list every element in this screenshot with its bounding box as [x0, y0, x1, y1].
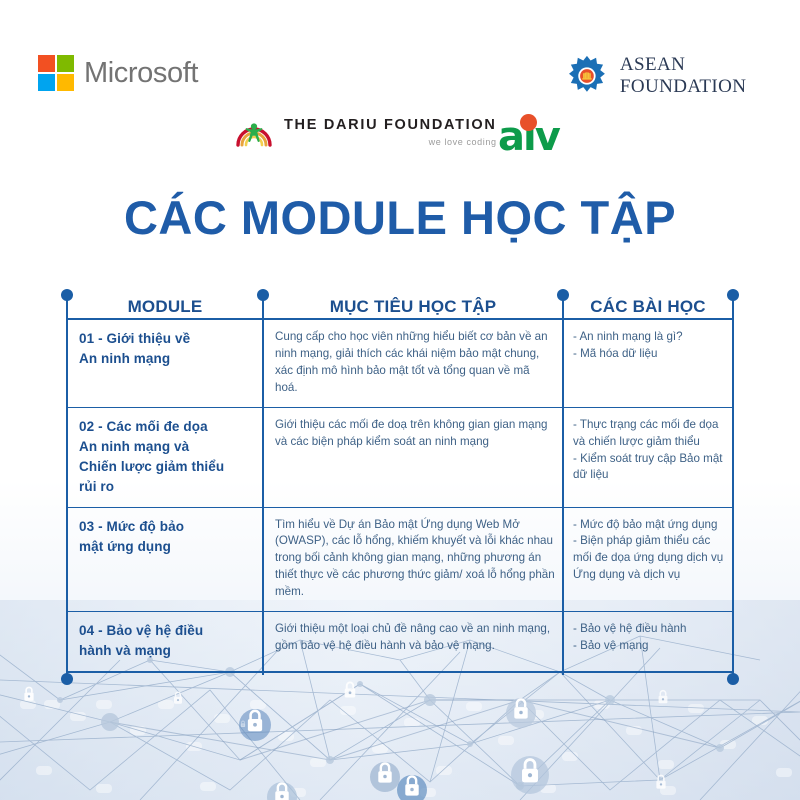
table-body: 01 - Giới thiệu vềAn ninh mạngCung cấp c…: [67, 318, 733, 673]
dariu-foundation-logo: THE DARIU FOUNDATION we love coding: [234, 113, 497, 153]
cell-lessons: - An ninh mạng là gì?- Mã hóa dữ liệu: [563, 320, 733, 407]
microsoft-square-yellow: [57, 74, 74, 91]
microsoft-square-green: [57, 55, 74, 72]
cell-module: 03 - Mức độ bảomật ứng dụng: [67, 508, 263, 612]
objective-text: Cung cấp cho học viên những hiểu biết cơ…: [275, 329, 555, 397]
lesson-item: - Biện pháp giảm thiểu các mối đe dọa ứn…: [573, 533, 725, 584]
table-row: 04 - Bảo vệ hệ điềuhành và mạngGiới thiệ…: [67, 612, 733, 671]
table-header-row: MODULE MỤC TIÊU HỌC TẬP CÁC BÀI HỌC: [67, 288, 733, 318]
dariu-wordmark: THE DARIU FOUNDATION: [284, 118, 497, 134]
cell-lessons: - Mức độ bảo mật ứng dụng- Biện pháp giả…: [563, 508, 733, 612]
objective-text: Giới thiệu các mối đe doạ trên không gia…: [275, 417, 555, 451]
cell-objective: Giới thiệu một loại chủ đề nâng cao về a…: [263, 612, 563, 671]
microsoft-square-blue: [38, 74, 55, 91]
objective-text: Giới thiệu một loại chủ đề nâng cao về a…: [275, 621, 555, 655]
lesson-item: - An ninh mạng là gì?: [573, 329, 725, 346]
column-header-lessons: CÁC BÀI HỌC: [563, 297, 733, 317]
cell-objective: Tìm hiểu về Dự án Bảo mật Ứng dụng Web M…: [263, 508, 563, 612]
module-title: 03 - Mức độ bảomật ứng dụng: [79, 517, 255, 557]
rail-dot-bottom-left: [61, 673, 73, 685]
asean-foundation-logo: ASEAN FOUNDATION: [565, 52, 800, 100]
cell-objective: Cung cấp cho học viên những hiểu biết cơ…: [263, 320, 563, 407]
rail-dot-top-left: [61, 289, 73, 301]
page-title: CÁC MODULE HỌC TẬP: [0, 190, 800, 245]
module-title: 02 - Các mối đe dọaAn ninh mạng vàChiến …: [79, 417, 255, 497]
modules-table: MODULE MỤC TIÊU HỌC TẬP CÁC BÀI HỌC 01 -…: [67, 288, 733, 318]
column-header-objectives: MỤC TIÊU HỌC TẬP: [263, 297, 563, 317]
cell-module: 04 - Bảo vệ hệ điềuhành và mạng: [67, 612, 263, 671]
dariu-tagline: we love coding: [284, 138, 497, 148]
lesson-item: - Mã hóa dữ liệu: [573, 346, 725, 363]
asean-foundation-wordmark: ASEAN FOUNDATION: [620, 54, 800, 98]
microsoft-logo: Microsoft: [38, 55, 198, 91]
module-title: 01 - Giới thiệu vềAn ninh mạng: [79, 329, 255, 369]
module-title: 04 - Bảo vệ hệ điềuhành và mạng: [79, 621, 255, 661]
cell-module: 02 - Các mối đe dọaAn ninh mạng vàChiến …: [67, 408, 263, 507]
rail-dot-bottom-right: [727, 673, 739, 685]
table-row: 02 - Các mối đe dọaAn ninh mạng vàChiến …: [67, 408, 733, 508]
microsoft-wordmark: Microsoft: [84, 57, 198, 90]
cell-objective: Giới thiệu các mối đe doạ trên không gia…: [263, 408, 563, 507]
lesson-item: - Mức độ bảo mật ứng dụng: [573, 517, 725, 534]
asean-emblem-icon: [565, 52, 609, 100]
lesson-item: - Bảo vệ hệ điều hành: [573, 621, 725, 638]
rail-dot-top-2: [557, 289, 569, 301]
lesson-item: - Thực trạng các mối đe dọa và chiến lượ…: [573, 417, 725, 451]
cell-lessons: - Thực trạng các mối đe dọa và chiến lượ…: [563, 408, 733, 507]
column-header-module: MODULE: [67, 297, 263, 317]
microsoft-grid-icon: [38, 55, 74, 91]
lesson-item: - Kiểm soát truy cập Bảo mật dữ liệu: [573, 451, 725, 485]
microsoft-square-red: [38, 55, 55, 72]
rail-dot-top-1: [257, 289, 269, 301]
cell-module: 01 - Giới thiệu vềAn ninh mạng: [67, 320, 263, 407]
aiv-dot-icon: [520, 114, 537, 131]
objective-text: Tìm hiểu về Dự án Bảo mật Ứng dụng Web M…: [275, 517, 555, 602]
aiv-logo: aiv: [498, 117, 559, 157]
table-row: 03 - Mức độ bảomật ứng dụngTìm hiểu về D…: [67, 508, 733, 613]
table-row: 01 - Giới thiệu vềAn ninh mạngCung cấp c…: [67, 320, 733, 408]
lesson-item: - Bảo vệ mạng: [573, 638, 725, 655]
dariu-emblem-icon: [234, 113, 274, 153]
cell-lessons: - Bảo vệ hệ điều hành- Bảo vệ mạng: [563, 612, 733, 671]
rail-dot-top-right: [727, 289, 739, 301]
